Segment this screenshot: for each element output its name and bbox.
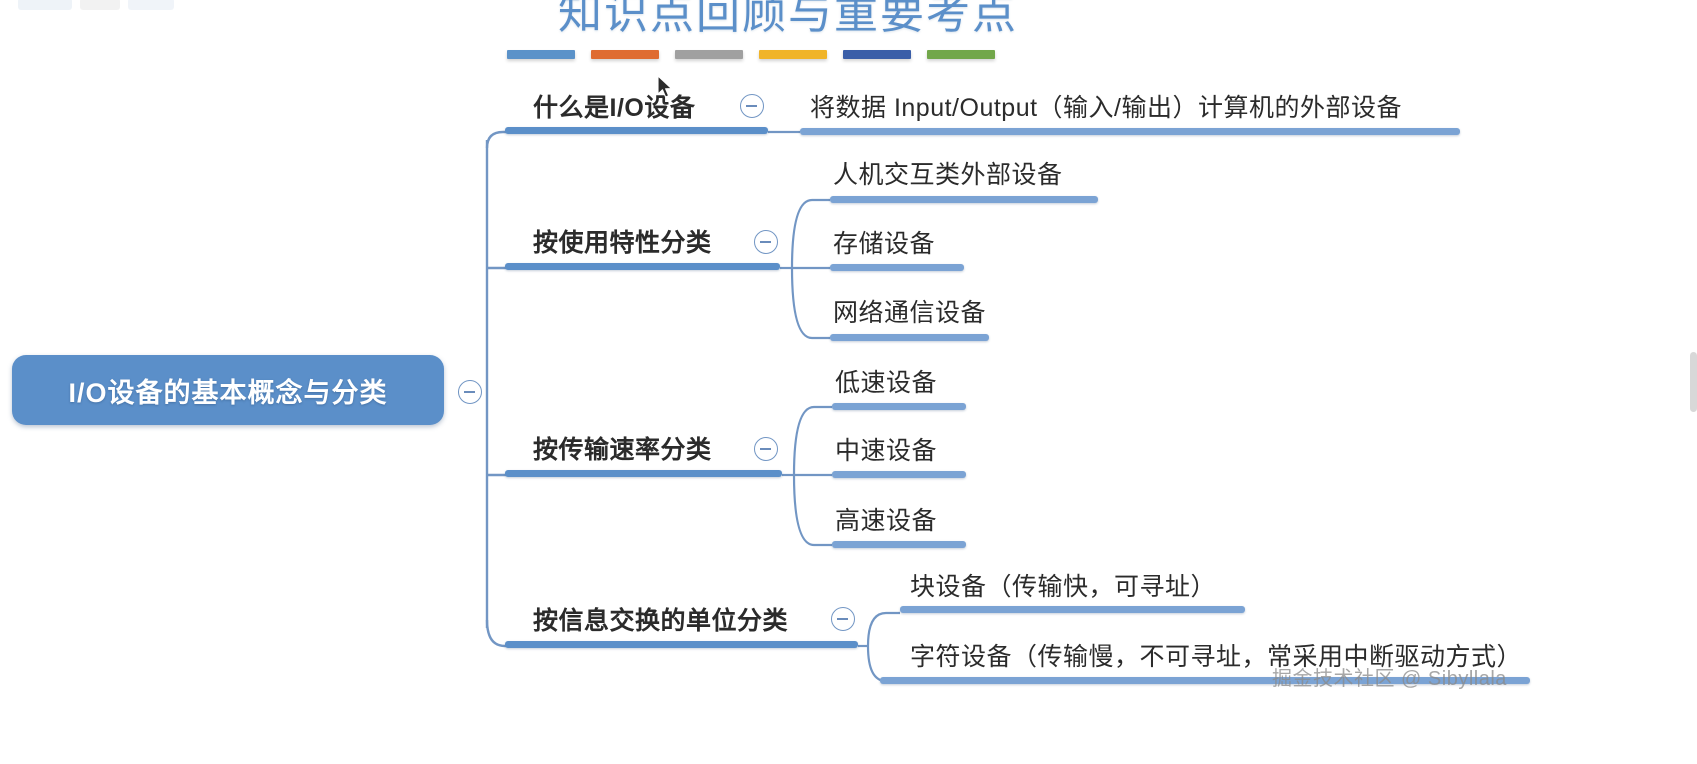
- leaf-label-0-0[interactable]: 将数据 Input/Output（输入/输出）计算机的外部设备: [810, 93, 1402, 123]
- branch-underline-1: [505, 263, 780, 270]
- root-collapse-toggle[interactable]: [458, 380, 482, 404]
- root-node[interactable]: I/O设备的基本概念与分类: [12, 355, 444, 425]
- mindmap-canvas: 知识点回顾与重要考点: [0, 0, 1697, 764]
- leaf-underline-2-2: [832, 541, 966, 548]
- leaf-underline-1-0: [830, 196, 1098, 203]
- leaf-underline-0-0: [800, 128, 1460, 135]
- watermark: 掘金技术社区 @ Sibyllala: [1272, 662, 1507, 691]
- branch-underline-0: [505, 127, 768, 134]
- branch-label-2[interactable]: 按传输速率分类: [533, 435, 712, 465]
- branch-underline-3: [505, 641, 858, 648]
- branch-collapse-toggle-3[interactable]: [831, 607, 855, 631]
- branch-label-0[interactable]: 什么是I/O设备: [533, 93, 695, 123]
- branch-collapse-toggle-1[interactable]: [754, 230, 778, 254]
- leaf-label-2-0[interactable]: 低速设备: [835, 368, 937, 398]
- title-bar-1: [591, 50, 659, 59]
- leaf-underline-1-1: [830, 264, 964, 271]
- leaf-label-2-2[interactable]: 高速设备: [835, 506, 937, 536]
- leaf-underline-3-0: [900, 606, 1245, 613]
- leaf-underline-1-2: [830, 334, 989, 341]
- leaf-underline-2-1: [832, 471, 966, 478]
- branch-label-1[interactable]: 按使用特性分类: [533, 228, 712, 258]
- leaf-underline-2-0: [832, 403, 966, 410]
- title-bar-3: [759, 50, 827, 59]
- title-color-bars: [507, 50, 995, 59]
- title-bar-2: [675, 50, 743, 59]
- branch-collapse-toggle-2[interactable]: [754, 437, 778, 461]
- leaf-label-1-1[interactable]: 存储设备: [833, 229, 935, 259]
- page-title-text: 知识点回顾与重要考点: [528, 0, 1048, 40]
- root-node-label: I/O设备的基本概念与分类: [68, 371, 387, 410]
- leaf-label-1-0[interactable]: 人机交互类外部设备: [833, 160, 1063, 190]
- leaf-label-1-2[interactable]: 网络通信设备: [833, 298, 986, 328]
- leaf-label-2-1[interactable]: 中速设备: [835, 436, 937, 466]
- title-bar-4: [843, 50, 911, 59]
- title-bar-0: [507, 50, 575, 59]
- branch-collapse-toggle-0[interactable]: [740, 94, 764, 118]
- scrollbar-thumb[interactable]: [1690, 352, 1697, 412]
- branch-underline-2: [505, 470, 782, 477]
- leaf-label-3-0[interactable]: 块设备（传输快，可寻址）: [910, 572, 1216, 602]
- branch-label-3[interactable]: 按信息交换的单位分类: [533, 606, 788, 636]
- page-title: 知识点回顾与重要考点: [528, 0, 1048, 40]
- ghost-artifact: [18, 0, 178, 16]
- title-bar-5: [927, 50, 995, 59]
